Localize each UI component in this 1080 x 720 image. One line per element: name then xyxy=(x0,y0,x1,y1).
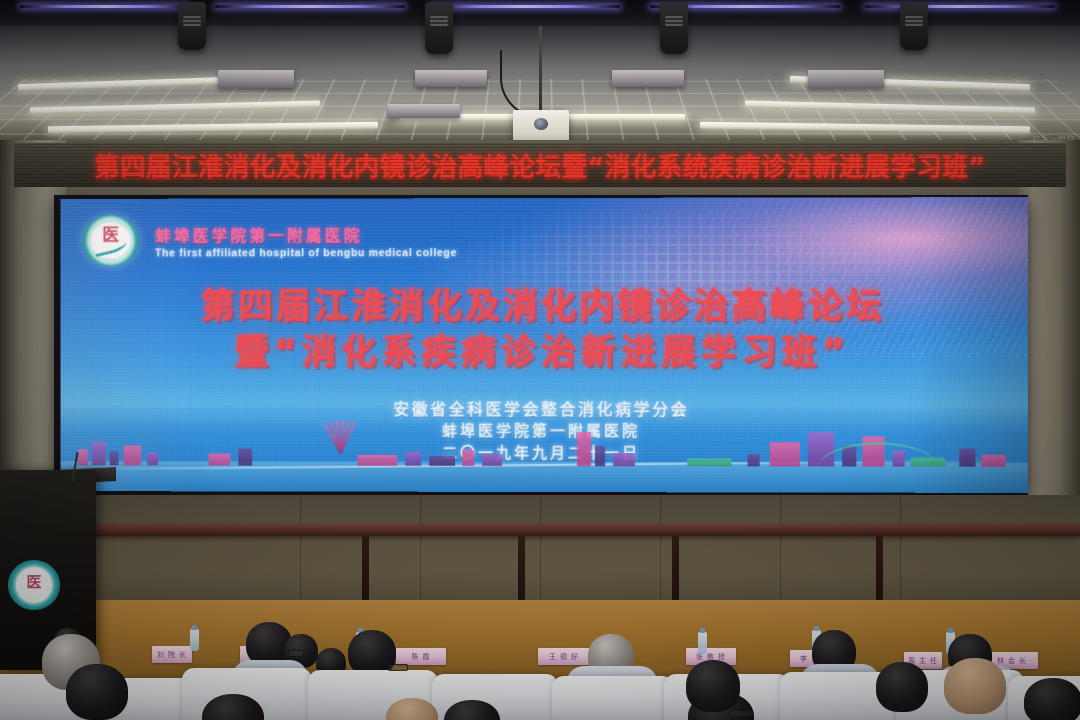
chair-cover xyxy=(552,676,674,720)
wall-panel-seam xyxy=(660,495,661,605)
audience-head xyxy=(1024,678,1080,720)
audience-head xyxy=(876,662,928,712)
led-screen-frame: 医 蚌埠医学院第一附属医院 The first affiliated hospi… xyxy=(54,195,1028,495)
eyeglasses-icon xyxy=(388,664,408,671)
ceiling-neon-strip xyxy=(20,5,190,8)
wall-panel-seam xyxy=(900,495,901,605)
air-vent xyxy=(218,70,294,88)
stage-long-table xyxy=(0,524,1080,536)
wall-panel-seam xyxy=(780,495,781,605)
eyeglasses-icon xyxy=(288,650,304,657)
water-bottle xyxy=(190,629,199,651)
projector-mount-rod xyxy=(539,26,542,118)
audience-head xyxy=(686,660,740,712)
wall-panel-seam xyxy=(540,495,541,605)
slide-date: 二〇一九年九月二十一日 xyxy=(60,442,1028,465)
skyline-water xyxy=(60,461,1028,493)
eyeglasses-icon xyxy=(730,710,752,717)
wall-panel-seam xyxy=(420,495,421,605)
hospital-emblem-icon: 医 xyxy=(82,215,139,267)
slide-subtitle-block: 安徽省全科医学会整合消化病学分会 蚌埠医学院第一附属医院 二〇一九年九月二十一日 xyxy=(60,398,1028,466)
air-vent xyxy=(808,70,884,88)
led-banner: 第四届江淮消化及消化内镜诊治高峰论坛暨“消化系统疾病诊治新进展学习班” xyxy=(14,143,1066,187)
audience-head xyxy=(66,664,128,720)
audience-head xyxy=(944,658,1006,714)
hospital-name-block: 蚌埠医学院第一附属医院 The first affiliated hospita… xyxy=(155,222,457,259)
hospital-name-en: The first affiliated hospital of bengbu … xyxy=(155,247,457,259)
slide-title-line-2: 暨“消化系疾病诊治新进展学习班” xyxy=(60,330,1028,376)
spotlight xyxy=(178,2,206,50)
air-vent xyxy=(612,70,684,87)
name-placard: 陈 霞 xyxy=(396,648,446,665)
spotlight xyxy=(900,2,928,50)
ceiling-light-strip xyxy=(565,114,685,121)
air-vent xyxy=(388,104,460,118)
ceiling-neon-strip xyxy=(215,5,405,8)
slide-host-hospital: 蚌埠医学院第一附属医院 xyxy=(60,421,1028,444)
slide-organizer: 安徽省全科医学会整合消化病学分会 xyxy=(60,398,1028,422)
projector-lens-icon xyxy=(534,118,548,130)
water-bottle xyxy=(698,632,707,654)
slide-title-line-1: 第四届江淮消化及消化内镜诊治高峰论坛 xyxy=(60,284,1028,331)
air-vent xyxy=(415,70,487,87)
podium-emblem-mark: 医 xyxy=(8,571,60,592)
ceiling-neon-strip xyxy=(865,5,1055,8)
spotlight xyxy=(425,2,453,54)
name-placard: 王 德 好 xyxy=(538,648,590,665)
slide-header: 医 蚌埠医学院第一附属医院 The first affiliated hospi… xyxy=(82,214,457,266)
led-banner-text: 第四届江淮消化及消化内镜诊治高峰论坛暨“消化系统疾病诊治新进展学习班” xyxy=(94,147,985,184)
audience-area: 程 医 师 陈 霞 王 德 好 张 教 授 李 主 任 林 会 长 刘 院 长 … xyxy=(0,596,1080,720)
slide-title-block: 第四届江淮消化及消化内镜诊治高峰论坛 暨“消化系疾病诊治新进展学习班” xyxy=(60,284,1028,377)
ceiling-neon-strip xyxy=(430,5,620,8)
led-screen: 医 蚌埠医学院第一附属医院 The first affiliated hospi… xyxy=(60,197,1028,493)
ceiling: 蚌医一附院 xyxy=(0,0,1080,146)
wall-panel-seam xyxy=(300,495,301,605)
conference-hall-photo: 蚌医一附院 第四届江淮消化及消化内镜诊治高峰论坛暨“消化系统疾病诊治新进展学习班… xyxy=(0,0,1080,720)
hospital-name-cn: 蚌埠医学院第一附属医院 xyxy=(155,222,457,246)
name-placard: 刘 院 长 xyxy=(152,646,192,663)
spotlight xyxy=(660,2,688,54)
